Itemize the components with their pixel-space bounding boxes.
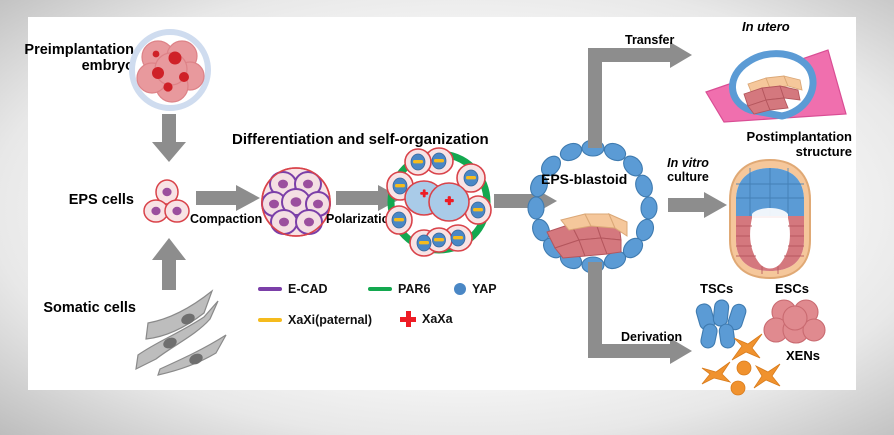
transfer-label: Transfer [625,33,674,47]
legend-label-xaxa: XaXa [422,312,453,326]
arrow-compaction [196,185,260,211]
in-vitro-culture-label: In vitro culture [657,156,719,184]
preimplantation-embryo-illustration [128,28,212,112]
in-vitro-culture-label-line2: culture [657,170,719,184]
escs-label: ESCs [775,282,809,297]
tscs-label: TSCs [700,282,733,297]
preimplantation-embryo-label-line1: Preimplantation [22,42,134,58]
preimplantation-embryo-label: Preimplantation embryo [22,42,134,74]
legend-marker-par6-icon [368,287,392,291]
legend-item-yap: YAP [454,282,497,296]
legend-marker-xaxa-cross-icon [400,311,416,327]
legend-label-e-cad: E-CAD [288,282,328,296]
derivation-label: Derivation [621,330,682,344]
arrow-branch-corner-up [588,48,654,62]
legend-item-par6: PAR6 [368,282,430,296]
in-utero-illustration [700,36,852,124]
eps-blastoid-label: EPS-blastoid [541,172,627,188]
eps-cells-illustration [142,178,194,228]
in-vitro-culture-label-line1: In vitro [657,156,719,170]
in-utero-label: In utero [742,20,790,35]
legend-marker-xaxi-icon [258,318,282,322]
compaction-label: Compaction [190,212,262,226]
eps-cells-label: EPS cells [30,192,134,208]
arrow-branch-corner-down [588,344,654,358]
preimplantation-embryo-label-line2: embryo [22,58,134,74]
arrow-embryo-to-eps [152,114,186,162]
xens-illustration [700,330,790,394]
somatic-cells-label: Somatic cells [26,300,136,316]
postimplantation-structure-label: Postimplantation structure [712,130,852,159]
legend-marker-yap-icon [454,283,466,295]
legend-item-xaxa: XaXa [400,311,453,327]
legend-label-xaxi: XaXi(paternal) [288,313,372,327]
arrow-somatic-to-eps [152,238,186,288]
compacted-embryo-illustration [259,166,333,238]
arrow-in-vitro-culture [668,192,730,218]
legend: E-CAD PAR6 YAP XaXi(paternal) XaXa [258,282,508,338]
differentiation-title: Differentiation and self-organization [232,132,489,149]
legend-label-yap: YAP [472,282,497,296]
legend-label-par6: PAR6 [398,282,430,296]
arrow-branch-trunk-up [588,48,602,148]
postimplantation-structure-label-line1: Postimplantation [712,130,852,145]
xens-label: XENs [786,349,820,364]
postimplantation-structure-illustration [722,156,818,282]
somatic-cells-illustration [126,283,236,375]
legend-marker-e-cad-icon [258,287,282,291]
figure-canvas: Preimplantation embryo EPS cells [0,0,894,435]
eps-blastoid-illustration [527,140,659,272]
polarized-embryo-illustration [386,148,492,256]
legend-item-xaxi: XaXi(paternal) [258,313,372,327]
legend-item-e-cad: E-CAD [258,282,328,296]
